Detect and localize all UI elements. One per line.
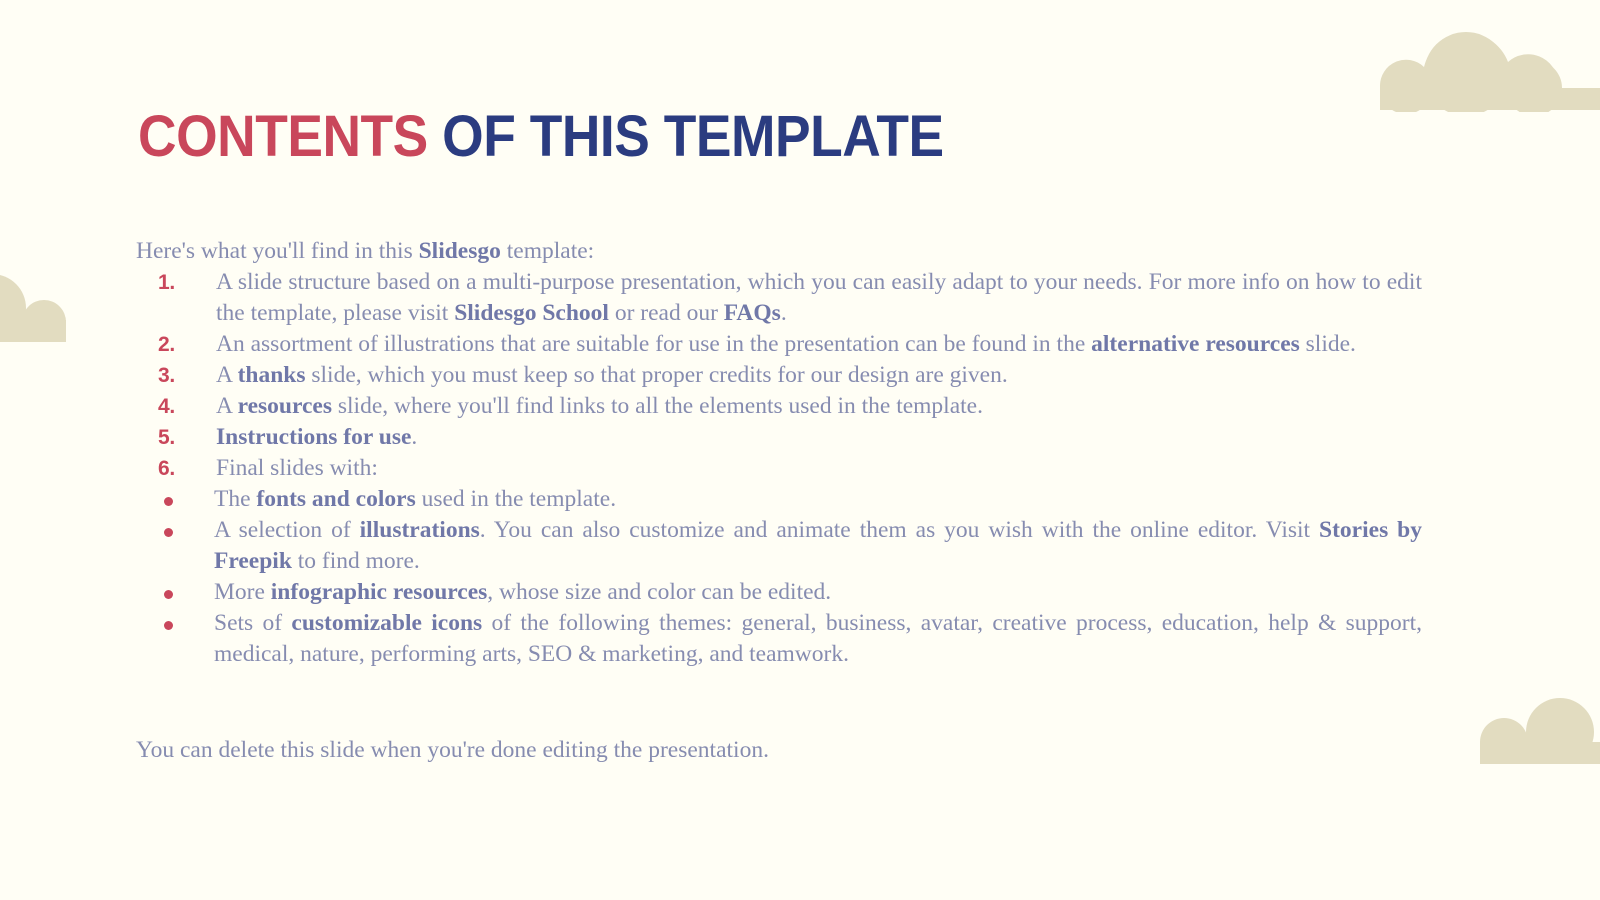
list-item: 2.An assortment of illustrations that ar… — [136, 329, 1422, 360]
list-item: 1.A slide structure based on a multi-pur… — [136, 267, 1422, 329]
list-item-text: A thanks slide, which you must keep so t… — [216, 360, 1422, 391]
plain-text: slide, which you must keep so that prope… — [306, 362, 1008, 388]
plain-text: or read our — [609, 300, 724, 326]
bullet-icon — [164, 621, 173, 630]
emphasis-text: resources — [238, 393, 332, 419]
emphasis-text: Instructions for use — [216, 424, 411, 450]
plain-text: A slide structure based on a multi-purpo… — [216, 269, 1422, 326]
list-item: 5.Instructions for use. — [136, 422, 1422, 453]
bullet-icon — [164, 528, 173, 537]
plain-text: The — [214, 486, 256, 512]
plain-text: . You can also customize and animate the… — [480, 517, 1319, 543]
cloud-icon-left — [0, 272, 82, 342]
sub-list-item-text: A selection of illustrations. You can al… — [214, 515, 1422, 577]
page-title: CONTENTS OF THIS TEMPLATE — [138, 108, 944, 166]
list-item-text: Final slides with: — [216, 453, 1422, 484]
bullet-icon — [164, 590, 173, 599]
plain-text: to find more. — [292, 548, 420, 574]
plain-text: slide. — [1300, 331, 1356, 357]
list-item-text: An assortment of illustrations that are … — [216, 329, 1422, 360]
plain-text: A — [216, 362, 238, 388]
emphasis-text: thanks — [238, 362, 306, 388]
plain-text: An assortment of illustrations that are … — [216, 331, 1091, 357]
list-item-number: 5. — [158, 422, 194, 453]
bulleted-sub-list: The fonts and colors used in the templat… — [136, 484, 1422, 670]
sub-list-item-text: Sets of customizable icons of the follow… — [214, 608, 1422, 670]
list-item-number: 1. — [158, 267, 194, 298]
list-item: 4.A resources slide, where you'll find l… — [136, 391, 1422, 422]
list-item-number: 4. — [158, 391, 194, 422]
list-item-text: Instructions for use. — [216, 422, 1422, 453]
sub-list-item: A selection of illustrations. You can al… — [136, 515, 1422, 577]
intro-text: Here's what you'll find in this — [136, 238, 419, 264]
plain-text: Sets of — [214, 610, 291, 636]
slide-canvas: CONTENTS OF THIS TEMPLATE Here's what yo… — [0, 0, 1600, 900]
list-item: 3.A thanks slide, which you must keep so… — [136, 360, 1422, 391]
plain-text: , whose size and color can be edited. — [487, 579, 831, 605]
list-item-number: 6. — [158, 453, 194, 484]
plain-text: . — [781, 300, 787, 326]
list-item-number: 3. — [158, 360, 194, 391]
content-body: Here's what you'll find in this Slidesgo… — [136, 236, 1422, 670]
emphasis-text: infographic resources — [271, 579, 488, 605]
emphasis-text: fonts and colors — [256, 486, 415, 512]
plain-text: A selection of — [214, 517, 360, 543]
plain-text: . — [411, 424, 417, 450]
intro-line: Here's what you'll find in this Slidesgo… — [136, 236, 1422, 267]
intro-tail: template: — [501, 238, 594, 264]
emphasis-text: illustrations — [360, 517, 480, 543]
list-item-text: A slide structure based on a multi-purpo… — [216, 267, 1422, 329]
emphasis-text: alternative resources — [1091, 331, 1300, 357]
list-item-number: 2. — [158, 329, 194, 360]
intro-bold: Slidesgo — [419, 238, 501, 264]
title-part-blue: OF THIS TEMPLATE — [428, 104, 944, 169]
cloud-icon-top-right — [1362, 32, 1600, 112]
emphasis-text: customizable icons — [291, 610, 482, 636]
outro-text: You can delete this slide when you're do… — [136, 735, 769, 766]
sub-list-item: More infographic resources, whose size a… — [136, 577, 1422, 608]
cloud-icon-bottom-right — [1466, 698, 1600, 764]
list-item: 6.Final slides with: — [136, 453, 1422, 484]
title-part-red: CONTENTS — [138, 104, 428, 169]
emphasis-text: FAQs — [724, 300, 781, 326]
list-item-text: A resources slide, where you'll find lin… — [216, 391, 1422, 422]
plain-text: Final slides with: — [216, 455, 378, 481]
emphasis-text: Slidesgo School — [454, 300, 609, 326]
bullet-icon — [164, 497, 173, 506]
plain-text: More — [214, 579, 271, 605]
plain-text: slide, where you'll find links to all th… — [332, 393, 983, 419]
sub-list-item-text: The fonts and colors used in the templat… — [214, 484, 1422, 515]
plain-text: used in the template. — [416, 486, 616, 512]
plain-text: A — [216, 393, 238, 419]
sub-list-item: The fonts and colors used in the templat… — [136, 484, 1422, 515]
numbered-list: 1.A slide structure based on a multi-pur… — [136, 267, 1422, 484]
sub-list-item: Sets of customizable icons of the follow… — [136, 608, 1422, 670]
sub-list-item-text: More infographic resources, whose size a… — [214, 577, 1422, 608]
